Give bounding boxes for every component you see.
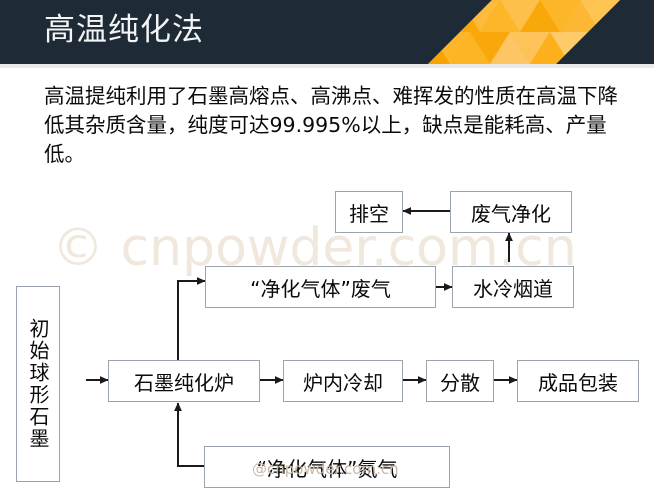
flowchart: 初始球形石墨 石墨纯化炉 炉内冷却 分散 成品包装 “净化气体”废气 水冷烟道 … bbox=[0, 0, 654, 491]
flow-node-finished-packaging[interactable]: 成品包装 bbox=[517, 360, 639, 402]
flow-node-purified-waste-gas[interactable]: “净化气体”废气 bbox=[205, 266, 436, 308]
flow-node-dispersion[interactable]: 分散 bbox=[426, 360, 494, 402]
flow-node-purified-nitrogen[interactable]: “净化气体”氮气 bbox=[204, 446, 450, 488]
flow-node-raw-graphite[interactable]: 初始球形石墨 bbox=[16, 286, 60, 482]
flow-node-water-cooled-flue[interactable]: 水冷烟道 bbox=[452, 266, 574, 308]
flow-node-purification-furnace[interactable]: 石墨纯化炉 bbox=[108, 360, 260, 402]
flow-node-exhaust-vent[interactable]: 排空 bbox=[335, 191, 403, 233]
flow-node-waste-gas-treatment[interactable]: 废气净化 bbox=[450, 191, 572, 233]
flow-node-in-furnace-cooling[interactable]: 炉内冷却 bbox=[283, 360, 403, 402]
